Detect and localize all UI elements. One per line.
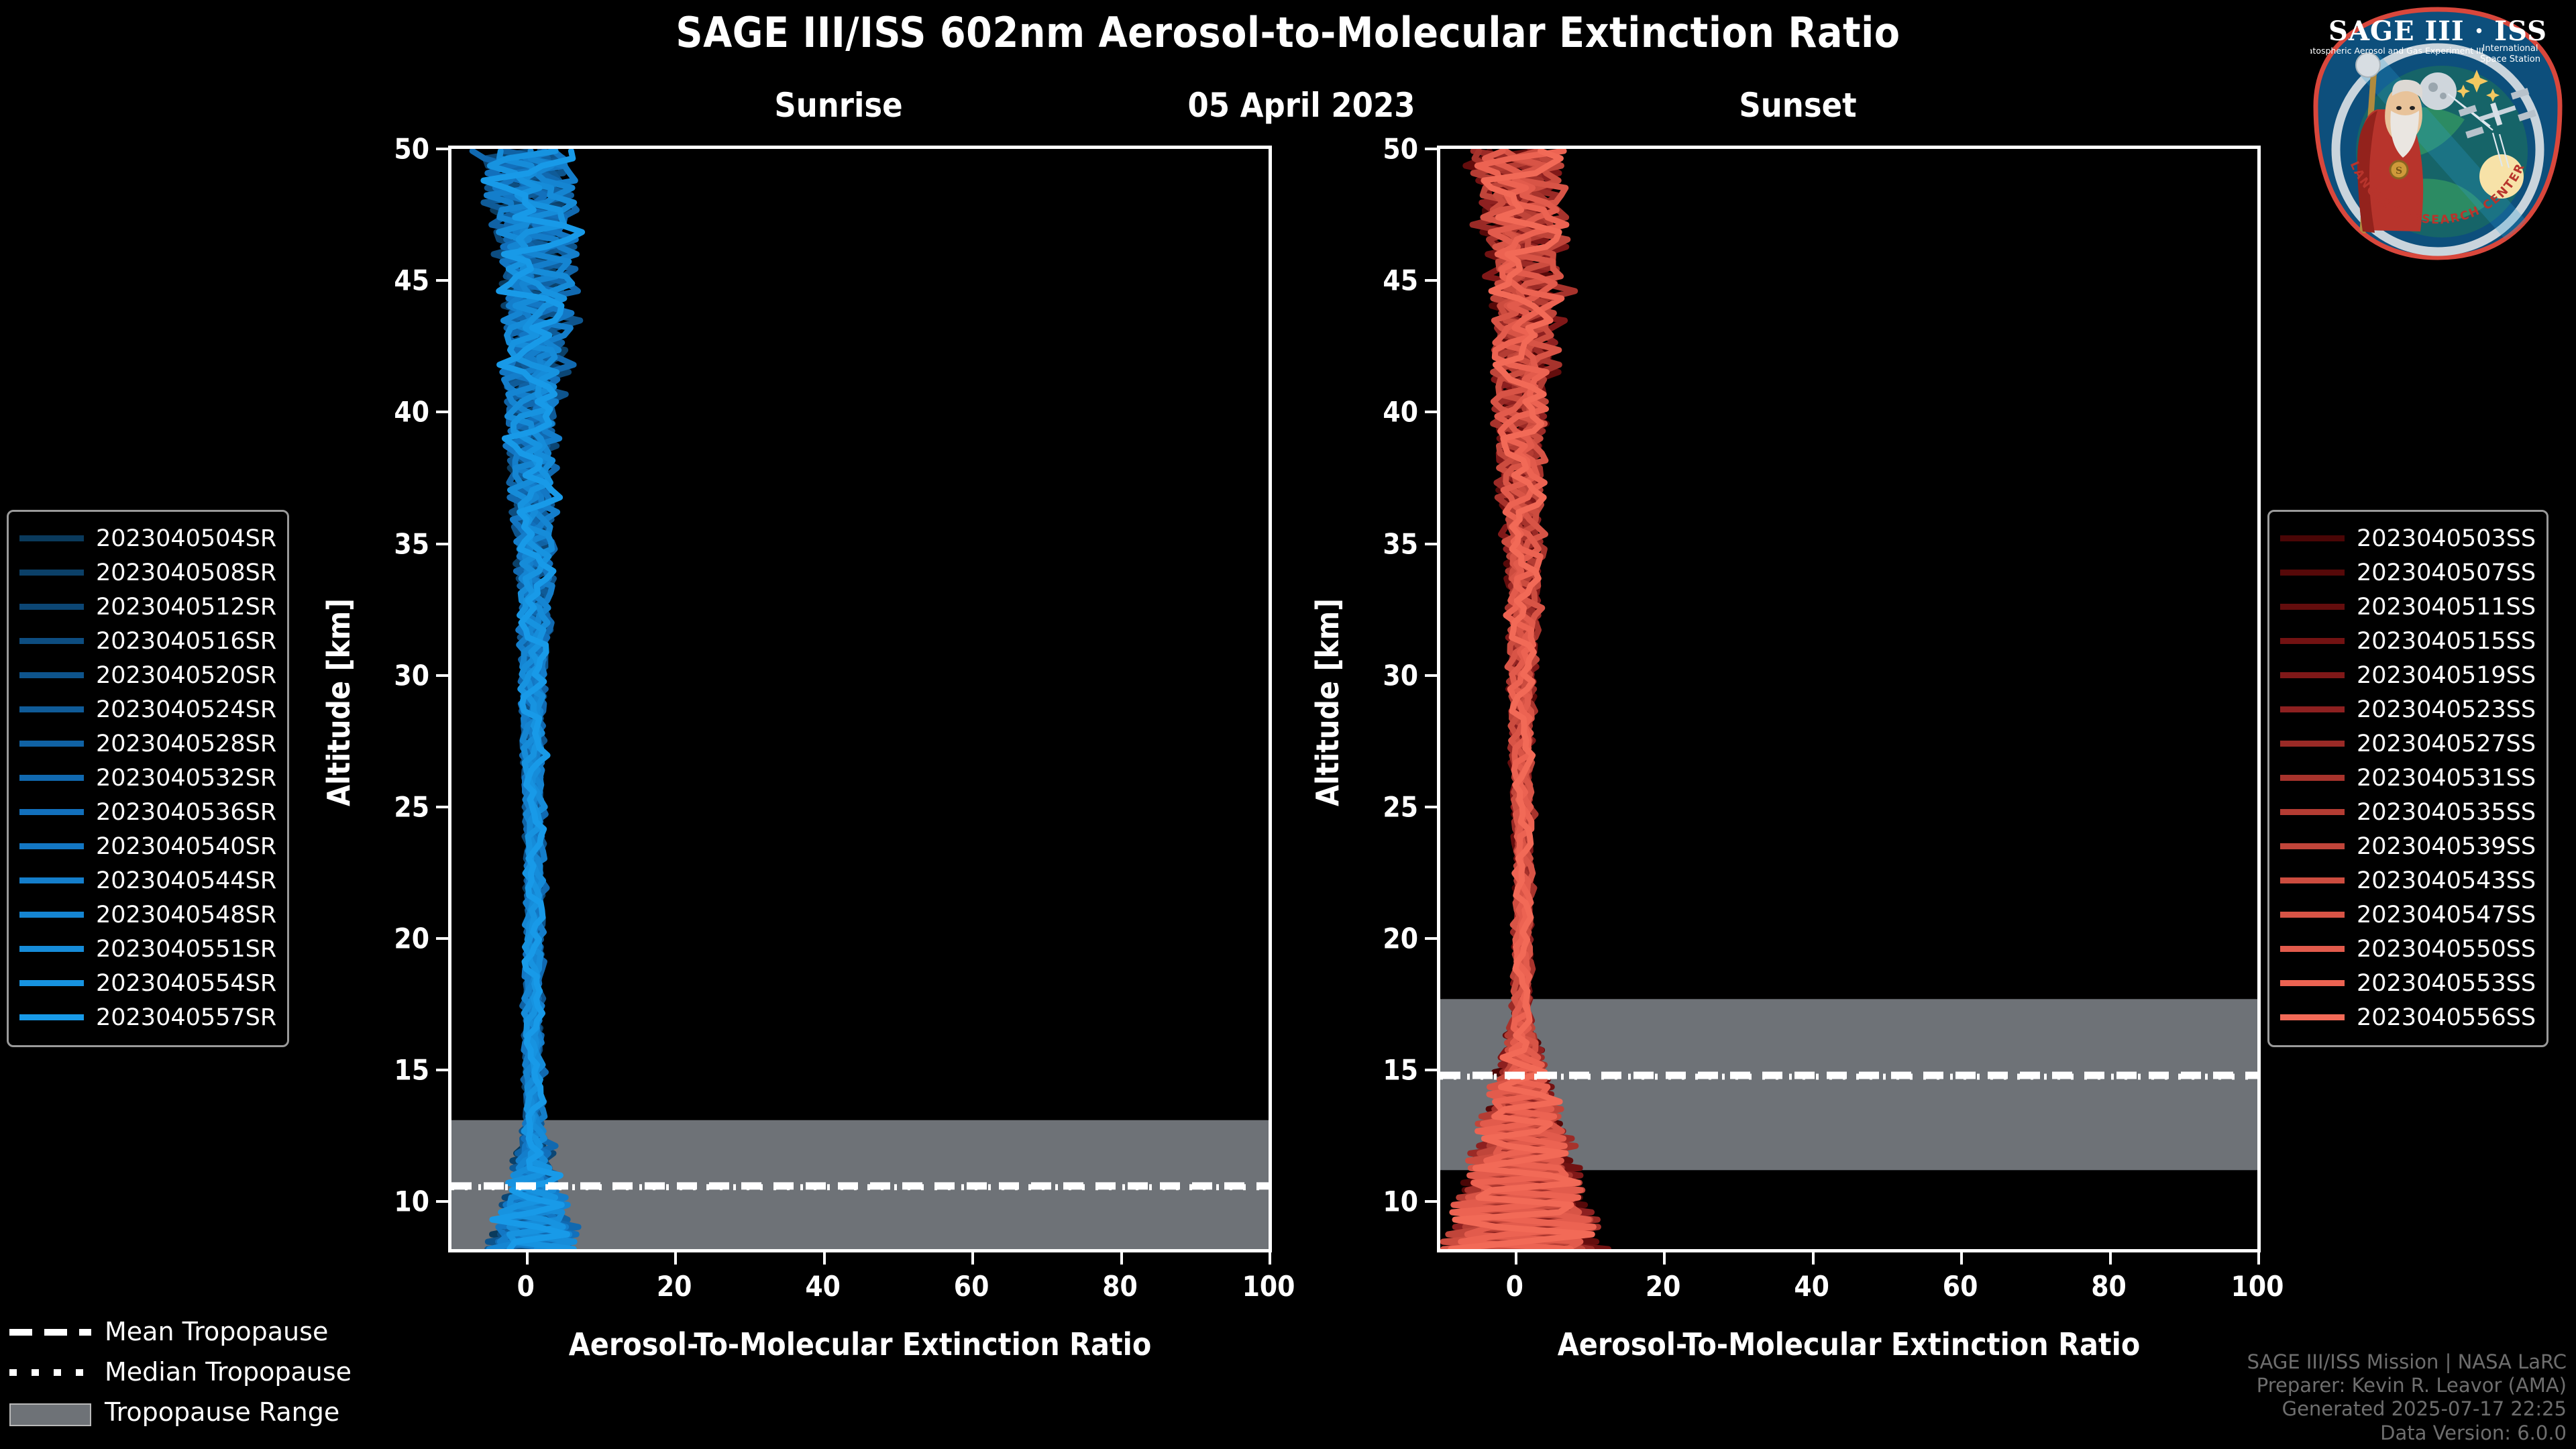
legend-color-swatch — [19, 604, 84, 610]
ytick-mark-sunset-10 — [1425, 1200, 1437, 1203]
legend-item-2023040550SS[interactable]: 2023040550SS — [2280, 932, 2536, 966]
legend-sunset[interactable]: 2023040503SS2023040507SS2023040511SS2023… — [2267, 510, 2548, 1047]
plot-area-sunset — [1440, 149, 2257, 1249]
credit-line-4: Data Version: 6.0.0 — [2247, 1421, 2567, 1445]
legend-item-2023040557SR[interactable]: 2023040557SR — [19, 1000, 276, 1034]
legend-item-2023040507SS[interactable]: 2023040507SS — [2280, 555, 2536, 590]
xtick-mark-sunrise-100 — [1269, 1252, 1271, 1265]
legend-item-label: 2023040524SR — [96, 696, 276, 723]
legend-color-swatch — [2280, 775, 2345, 781]
ytick-mark-sunset-15 — [1425, 1069, 1437, 1071]
legend-color-swatch — [2280, 946, 2345, 952]
legend-item-label: 2023040523SS — [2357, 696, 2536, 723]
legend-item-label: 2023040544SR — [96, 867, 276, 894]
xtick-label-sunset-40: 40 — [1772, 1270, 1852, 1303]
plot-panel-sunrise[interactable] — [448, 146, 1272, 1252]
ytick-mark-sunrise-20 — [436, 937, 448, 940]
legend-color-swatch — [19, 980, 84, 986]
legend-item-2023040544SR[interactable]: 2023040544SR — [19, 863, 276, 898]
svg-text:S: S — [2396, 166, 2402, 176]
ytick-mark-sunrise-25 — [436, 806, 448, 808]
ytick-label-sunrise-10: 10 — [356, 1185, 429, 1218]
xtick-mark-sunrise-0 — [526, 1252, 529, 1265]
legend-color-swatch — [2280, 980, 2345, 986]
legend-label-mean-tropopause: Mean Tropopause — [105, 1317, 328, 1346]
legend-item-label: 2023040536SR — [96, 799, 276, 826]
legend-color-swatch — [19, 570, 84, 576]
legend-item-label: 2023040515SS — [2357, 628, 2536, 655]
legend-item-label: 2023040512SR — [96, 594, 276, 621]
credit-line-2: Preparer: Kevin R. Leavor (AMA) — [2247, 1374, 2567, 1397]
ytick-mark-sunrise-10 — [436, 1200, 448, 1203]
legend-color-swatch — [2280, 843, 2345, 849]
legend-item-2023040520SR[interactable]: 2023040520SR — [19, 658, 276, 692]
plot-area-sunrise — [451, 149, 1269, 1249]
ytick-label-sunset-35: 35 — [1344, 527, 1418, 560]
subtitle-date: 05 April 2023 — [1033, 86, 1570, 125]
credit-line-3: Generated 2025-07-17 22:25 — [2247, 1397, 2567, 1421]
legend-color-swatch — [2280, 741, 2345, 747]
ytick-mark-sunset-30 — [1425, 674, 1437, 677]
legend-item-2023040547SS[interactable]: 2023040547SS — [2280, 898, 2536, 932]
legend-color-swatch — [19, 741, 84, 747]
legend-color-swatch — [19, 912, 84, 918]
legend-item-label: 2023040551SR — [96, 936, 276, 963]
legend-color-swatch — [2280, 604, 2345, 610]
xtick-label-sunrise-40: 40 — [783, 1270, 863, 1303]
legend-color-swatch — [19, 809, 84, 815]
ytick-label-sunrise-20: 20 — [356, 922, 429, 955]
xtick-label-sunset-100: 100 — [2217, 1270, 2298, 1303]
ytick-mark-sunrise-35 — [436, 543, 448, 545]
legend-item-label: 2023040547SS — [2357, 902, 2536, 928]
dashed-line-icon — [9, 1323, 91, 1340]
logo-title: SAGE III · ISS — [2328, 15, 2547, 47]
legend-item-2023040512SR[interactable]: 2023040512SR — [19, 590, 276, 624]
legend-item-label: 2023040556SS — [2357, 1004, 2536, 1031]
xtick-mark-sunset-40 — [1812, 1252, 1815, 1265]
legend-item-label: 2023040520SR — [96, 662, 276, 689]
legend-item-2023040516SR[interactable]: 2023040516SR — [19, 624, 276, 658]
legend-item-2023040540SR[interactable]: 2023040540SR — [19, 829, 276, 863]
legend-item-2023040532SR[interactable]: 2023040532SR — [19, 761, 276, 795]
legend-color-swatch — [19, 843, 84, 849]
legend-item-label: 2023040508SR — [96, 559, 276, 586]
legend-item-2023040503SS[interactable]: 2023040503SS — [2280, 521, 2536, 555]
legend-color-swatch — [19, 877, 84, 883]
legend-item-2023040543SS[interactable]: 2023040543SS — [2280, 863, 2536, 898]
filled-box-icon — [9, 1403, 91, 1421]
legend-color-swatch — [19, 706, 84, 712]
xtick-label-sunrise-80: 80 — [1080, 1270, 1161, 1303]
legend-tropopause: Mean Tropopause Median Tropopause Tropop… — [9, 1311, 352, 1432]
legend-item-label: 2023040503SS — [2357, 525, 2536, 552]
legend-item-2023040508SR[interactable]: 2023040508SR — [19, 555, 276, 590]
ytick-label-sunset-50: 50 — [1344, 133, 1418, 166]
legend-item-2023040515SS[interactable]: 2023040515SS — [2280, 624, 2536, 658]
xtick-label-sunrise-20: 20 — [634, 1270, 714, 1303]
ytick-label-sunrise-40: 40 — [356, 396, 429, 429]
legend-item-2023040535SS[interactable]: 2023040535SS — [2280, 795, 2536, 829]
xtick-mark-sunset-80 — [2109, 1252, 2112, 1265]
axis-title-x-sunrise: Aerosol-To-Molecular Extinction Ratio — [448, 1326, 1272, 1362]
legend-item-label: 2023040550SS — [2357, 936, 2536, 963]
legend-item-label: 2023040539SS — [2357, 833, 2536, 860]
legend-item-2023040528SR[interactable]: 2023040528SR — [19, 727, 276, 761]
credits-block: SAGE III/ISS Mission | NASA LaRC Prepare… — [2247, 1350, 2567, 1446]
xtick-label-sunset-20: 20 — [1623, 1270, 1703, 1303]
ytick-mark-sunrise-30 — [436, 674, 448, 677]
ytick-mark-sunrise-15 — [436, 1069, 448, 1071]
legend-color-swatch — [2280, 570, 2345, 576]
legend-item-label: 2023040504SR — [96, 525, 276, 552]
xtick-mark-sunset-0 — [1515, 1252, 1517, 1265]
xtick-mark-sunrise-40 — [823, 1252, 826, 1265]
xtick-mark-sunrise-20 — [674, 1252, 677, 1265]
legend-item-label: 2023040535SS — [2357, 799, 2536, 826]
legend-row-median-tropopause: Median Tropopause — [9, 1352, 352, 1392]
xtick-label-sunset-60: 60 — [1920, 1270, 2000, 1303]
ytick-mark-sunset-40 — [1425, 411, 1437, 413]
legend-color-swatch — [19, 535, 84, 541]
xtick-label-sunrise-0: 0 — [486, 1270, 566, 1303]
legend-item-2023040554SR[interactable]: 2023040554SR — [19, 966, 276, 1000]
legend-item-label: 2023040543SS — [2357, 867, 2536, 894]
ytick-label-sunrise-45: 45 — [356, 264, 429, 297]
xtick-mark-sunset-100 — [2257, 1252, 2260, 1265]
legend-item-2023040511SS[interactable]: 2023040511SS — [2280, 590, 2536, 624]
ytick-label-sunrise-35: 35 — [356, 527, 429, 560]
axis-title-y-sunset: Altitude [km] — [1309, 598, 1346, 806]
legend-item-label: 2023040516SR — [96, 628, 276, 655]
axis-title-x-sunset: Aerosol-To-Molecular Extinction Ratio — [1437, 1326, 2261, 1362]
ytick-mark-sunset-20 — [1425, 937, 1437, 940]
legend-item-2023040504SR[interactable]: 2023040504SR — [19, 521, 276, 555]
xtick-mark-sunset-60 — [1960, 1252, 1963, 1265]
legend-row-mean-tropopause: Mean Tropopause — [9, 1311, 352, 1352]
legend-item-2023040519SS[interactable]: 2023040519SS — [2280, 658, 2536, 692]
logo-subtitle-right-1: International — [2483, 44, 2538, 54]
legend-color-swatch — [19, 946, 84, 952]
legend-item-label: 2023040527SS — [2357, 731, 2536, 757]
ytick-mark-sunset-45 — [1425, 279, 1437, 282]
legend-item-2023040548SR[interactable]: 2023040548SR — [19, 898, 276, 932]
legend-color-swatch — [2280, 706, 2345, 712]
legend-color-swatch — [2280, 877, 2345, 883]
xtick-mark-sunset-20 — [1663, 1252, 1666, 1265]
ytick-label-sunrise-15: 15 — [356, 1054, 429, 1087]
legend-item-2023040551SR[interactable]: 2023040551SR — [19, 932, 276, 966]
ytick-mark-sunrise-45 — [436, 279, 448, 282]
dotted-line-icon — [9, 1363, 91, 1381]
legend-color-swatch — [2280, 638, 2345, 644]
legend-item-label: 2023040553SS — [2357, 970, 2536, 997]
credit-line-1: SAGE III/ISS Mission | NASA LaRC — [2247, 1350, 2567, 1374]
ytick-label-sunset-25: 25 — [1344, 790, 1418, 823]
legend-sunrise[interactable]: 2023040504SR2023040508SR2023040512SR2023… — [7, 510, 289, 1047]
legend-color-swatch — [19, 672, 84, 678]
ytick-label-sunrise-25: 25 — [356, 790, 429, 823]
legend-color-swatch — [2280, 1014, 2345, 1020]
ytick-label-sunset-30: 30 — [1344, 659, 1418, 692]
xtick-mark-sunrise-80 — [1120, 1252, 1123, 1265]
xtick-label-sunset-80: 80 — [2069, 1270, 2149, 1303]
legend-item-label: 2023040557SR — [96, 1004, 276, 1031]
legend-item-label: 2023040528SR — [96, 731, 276, 757]
ytick-label-sunset-45: 45 — [1344, 264, 1418, 297]
ytick-label-sunset-20: 20 — [1344, 922, 1418, 955]
legend-color-swatch — [2280, 672, 2345, 678]
legend-row-tropopause-range: Tropopause Range — [9, 1392, 352, 1432]
legend-item-label: 2023040532SR — [96, 765, 276, 792]
xtick-label-sunrise-60: 60 — [931, 1270, 1012, 1303]
logo-subtitle-right-2: Space Station — [2480, 54, 2540, 64]
legend-label-median-tropopause: Median Tropopause — [105, 1357, 352, 1387]
axis-title-y-sunrise: Altitude [km] — [321, 598, 357, 806]
legend-item-2023040527SS[interactable]: 2023040527SS — [2280, 727, 2536, 761]
legend-item-label: 2023040507SS — [2357, 559, 2536, 586]
legend-color-swatch — [19, 638, 84, 644]
legend-item-label: 2023040548SR — [96, 902, 276, 928]
legend-item-2023040523SS[interactable]: 2023040523SS — [2280, 692, 2536, 727]
ytick-mark-sunrise-50 — [436, 148, 448, 150]
sage-iii-iss-logo: S BALL · NASA LANGLEY RESEARCH CENTER · … — [2310, 5, 2565, 262]
xtick-mark-sunrise-60 — [971, 1252, 974, 1265]
legend-color-swatch — [2280, 912, 2345, 918]
ytick-label-sunrise-50: 50 — [356, 133, 429, 166]
ytick-label-sunset-15: 15 — [1344, 1054, 1418, 1087]
ytick-label-sunset-40: 40 — [1344, 396, 1418, 429]
legend-color-swatch — [19, 1014, 84, 1020]
legend-item-label: 2023040540SR — [96, 833, 276, 860]
legend-item-2023040539SS[interactable]: 2023040539SS — [2280, 829, 2536, 863]
legend-item-2023040556SS[interactable]: 2023040556SS — [2280, 1000, 2536, 1034]
legend-item-2023040553SS[interactable]: 2023040553SS — [2280, 966, 2536, 1000]
ytick-mark-sunset-35 — [1425, 543, 1437, 545]
page-title: SAGE III/ISS 602nm Aerosol-to-Molecular … — [0, 8, 2576, 57]
legend-item-label: 2023040511SS — [2357, 594, 2536, 621]
ytick-label-sunrise-30: 30 — [356, 659, 429, 692]
legend-item-2023040536SR[interactable]: 2023040536SR — [19, 795, 276, 829]
legend-color-swatch — [2280, 535, 2345, 541]
ytick-label-sunset-10: 10 — [1344, 1185, 1418, 1218]
legend-item-label: 2023040519SS — [2357, 662, 2536, 689]
ytick-mark-sunset-50 — [1425, 148, 1437, 150]
legend-item-label: 2023040554SR — [96, 970, 276, 997]
subtitle-sunset: Sunset — [1664, 86, 1932, 125]
ytick-mark-sunset-25 — [1425, 806, 1437, 808]
legend-item-2023040524SR[interactable]: 2023040524SR — [19, 692, 276, 727]
legend-color-swatch — [2280, 809, 2345, 815]
legend-item-2023040531SS[interactable]: 2023040531SS — [2280, 761, 2536, 795]
legend-label-tropopause-range: Tropopause Range — [105, 1397, 339, 1427]
xtick-label-sunrise-100: 100 — [1228, 1270, 1309, 1303]
subtitle-sunrise: Sunrise — [704, 86, 973, 125]
legend-item-label: 2023040531SS — [2357, 765, 2536, 792]
xtick-label-sunset-0: 0 — [1474, 1270, 1555, 1303]
legend-color-swatch — [19, 775, 84, 781]
logo-subtitle-left: Stratospheric Aerosol and Gas Experiment… — [2310, 46, 2483, 56]
ytick-mark-sunrise-40 — [436, 411, 448, 413]
plot-panel-sunset[interactable] — [1437, 146, 2261, 1252]
